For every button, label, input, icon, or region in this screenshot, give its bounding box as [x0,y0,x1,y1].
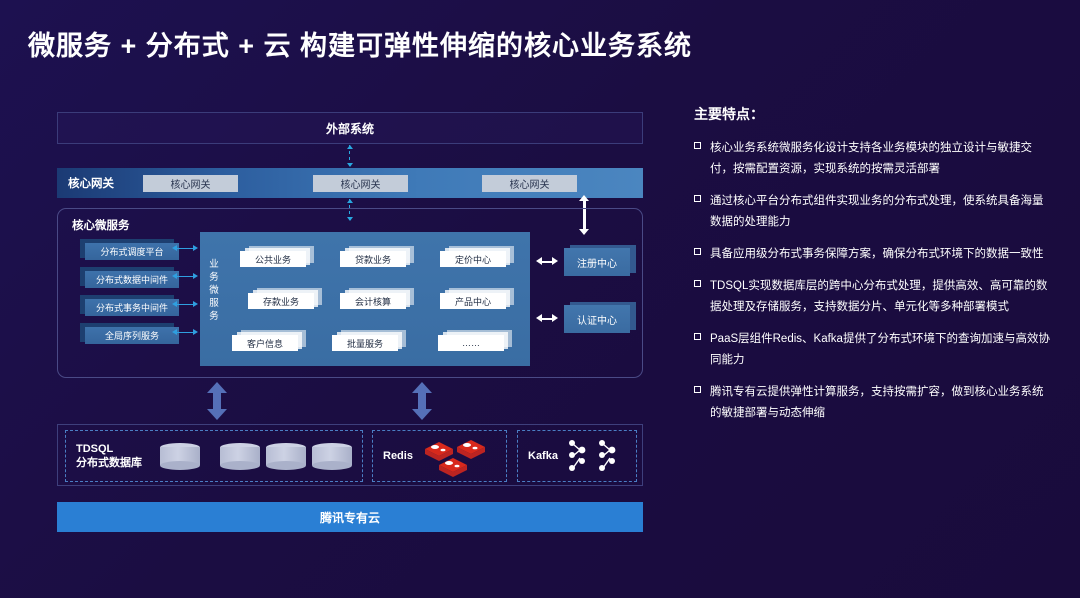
link-arrow-data-middleware [172,273,198,280]
core-microservices-container: 核心微服务 分布式调度平台 分布式数据中间件 分布式事务中间件 全局序列服务 [57,208,643,378]
bullet-square-icon [694,248,701,255]
core-data-arrow-right [412,382,432,420]
database-cylinder-icon [266,443,306,470]
registry-center-label: 注册中心 [564,248,630,276]
platform-service-data-middleware[interactable]: 分布式数据中间件 [80,267,178,286]
service-card-label: 客户信息 [232,335,298,351]
platform-service-label: 分布式数据中间件 [85,271,179,288]
gateway-node-2[interactable]: 核心网关 [313,175,408,192]
link-arrow-transaction-middleware [172,301,198,308]
feature-item: PaaS层组件Redis、Kafka提供了分布式环境下的查询加速与高效协同能力 [694,329,1054,371]
service-card-batch[interactable]: 批量服务 [332,330,406,350]
core-gateway-bar: 核心网关 核心网关 核心网关 核心网关 [57,168,643,198]
platform-service-scheduling[interactable]: 分布式调度平台 [80,239,178,258]
database-cylinder-icon [160,443,200,470]
bullet-square-icon [694,333,701,340]
page-title: 微服务 + 分布式 + 云 构建可弹性伸缩的核心业务系统 [28,24,692,63]
tdsql-label-line1: TDSQL [76,443,113,455]
bullet-square-icon [694,386,701,393]
feature-text: TDSQL实现数据库层的跨中心分布式处理，提供高效、高可靠的数据处理及存储服务，… [710,276,1054,318]
link-arrow-registry [536,257,558,266]
business-microservices-label: 业务微服务 [207,258,221,323]
service-card-label: 定价中心 [440,251,506,267]
tdsql-label: TDSQL 分布式数据库 [76,442,142,470]
link-arrow-global-sequence [172,329,198,336]
database-node-group [160,443,352,470]
data-layer-container: TDSQL 分布式数据库 Redis [57,424,643,486]
external-system-box: 外部系统 [57,112,643,144]
bullet-square-icon [694,195,701,202]
feature-item: 腾讯专有云提供弹性计算服务，支持按需扩容，做到核心业务系统的敏捷部署与动态伸缩 [694,382,1054,424]
connector-external-gateway [349,145,350,167]
kafka-cell[interactable]: Kafka [517,430,637,482]
feature-item: 具备应用级分布式事务保障方案，确保分布式环境下的数据一致性 [694,244,1054,265]
gateway-node-3[interactable]: 核心网关 [482,175,577,192]
platform-service-label: 全局序列服务 [85,327,179,344]
gateway-node-1[interactable]: 核心网关 [143,175,238,192]
service-card-label: 公共业务 [240,251,306,267]
redis-label: Redis [383,449,413,463]
feature-text: 通过核心平台分布式组件实现业务的分布式处理，使系统具备海量数据的处理能力 [710,191,1054,233]
link-arrow-scheduling [172,245,198,252]
redis-icon [419,433,493,479]
auth-center-label: 认证中心 [564,305,630,333]
service-card-product[interactable]: 产品中心 [440,288,514,308]
service-card-label: 会计核算 [340,293,406,309]
core-microservices-title: 核心微服务 [72,217,130,233]
service-card-public[interactable]: 公共业务 [240,246,314,266]
kafka-icon [564,436,626,476]
database-cylinder-icon [220,443,260,470]
gateway-label: 核心网关 [68,175,114,191]
tencent-private-cloud-bar: 腾讯专有云 [57,502,643,532]
service-card-label: 贷款业务 [340,251,406,267]
auth-center-box[interactable]: 认证中心 [564,302,636,332]
platform-service-transaction-middleware[interactable]: 分布式事务中间件 [80,295,178,314]
feature-item: TDSQL实现数据库层的跨中心分布式处理，提供高效、高可靠的数据处理及存储服务，… [694,276,1054,318]
service-card-label: 产品中心 [440,293,506,309]
service-card-label: 存款业务 [248,293,314,309]
feature-text: PaaS层组件Redis、Kafka提供了分布式环境下的查询加速与高效协同能力 [710,329,1054,371]
registry-center-box[interactable]: 注册中心 [564,245,636,275]
tdsql-label-line2: 分布式数据库 [76,457,142,469]
bullet-square-icon [694,142,701,149]
bullet-square-icon [694,280,701,287]
service-card-label: …… [438,335,504,351]
service-card-more[interactable]: …… [438,330,512,350]
service-card-accounting[interactable]: 会计核算 [340,288,414,308]
platform-service-label: 分布式事务中间件 [85,299,179,316]
service-card-loan[interactable]: 贷款业务 [340,246,414,266]
architecture-diagram: 外部系统 核心网关 核心网关 核心网关 核心网关 核心微服务 分布式调度平台 分… [57,112,643,542]
service-card-deposit[interactable]: 存款业务 [248,288,322,308]
service-card-label: 批量服务 [332,335,398,351]
link-arrow-auth [536,314,558,323]
service-card-pricing[interactable]: 定价中心 [440,246,514,266]
platform-service-label: 分布式调度平台 [85,243,179,260]
database-cylinder-icon [312,443,352,470]
feature-item: 核心业务系统微服务化设计支持各业务模块的独立设计与敏捷交付，按需配置资源，实现系… [694,138,1054,180]
business-microservices-panel: 业务微服务 公共业务 贷款业务 定价中心 存款业务 会计核算 [200,232,530,366]
feature-text: 核心业务系统微服务化设计支持各业务模块的独立设计与敏捷交付，按需配置资源，实现系… [710,138,1054,180]
kafka-label: Kafka [528,449,558,463]
platform-service-global-sequence[interactable]: 全局序列服务 [80,323,178,342]
feature-item: 通过核心平台分布式组件实现业务的分布式处理，使系统具备海量数据的处理能力 [694,191,1054,233]
features-title: 主要特点： [694,104,1054,124]
feature-text: 腾讯专有云提供弹性计算服务，支持按需扩容，做到核心业务系统的敏捷部署与动态伸缩 [710,382,1054,424]
redis-cell[interactable]: Redis [372,430,507,482]
service-card-customer[interactable]: 客户信息 [232,330,306,350]
tdsql-cell[interactable]: TDSQL 分布式数据库 [65,430,363,482]
core-data-arrow-left [207,382,227,420]
feature-text: 具备应用级分布式事务保障方案，确保分布式环境下的数据一致性 [710,244,1044,265]
features-panel: 主要特点： 核心业务系统微服务化设计支持各业务模块的独立设计与敏捷交付，按需配置… [694,104,1054,435]
